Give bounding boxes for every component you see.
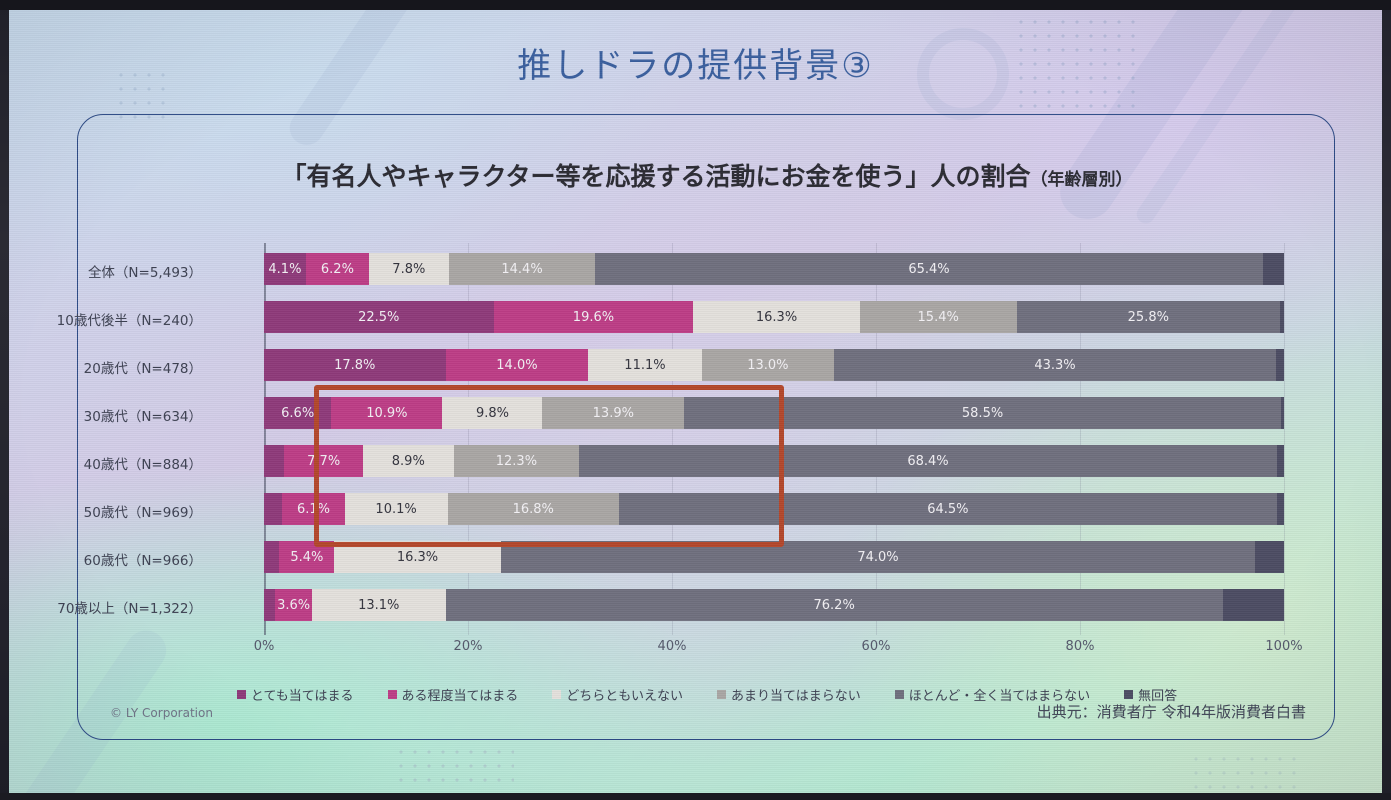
category-label: 30歳代（N=634）: [22, 405, 202, 425]
bar-row: 4.1%6.2%7.8%14.4%65.4%: [264, 253, 1284, 285]
content-card: 「有名人やキャラクター等を応援する活動にお金を使う」人の割合（年齢層別） 全体（…: [77, 114, 1335, 740]
bar-segment: [1280, 301, 1284, 333]
bar-segment: [264, 589, 275, 621]
legend-swatch-icon: [717, 690, 726, 699]
x-axis-ticks: 0%20%40%60%80%100%: [264, 639, 1284, 659]
bar-segment: 17.8%: [264, 349, 446, 381]
bar-segment: 43.3%: [834, 349, 1276, 381]
monitor-bezel-top: [0, 0, 1391, 10]
monitor-bezel-right: [1382, 0, 1391, 800]
legend-label: あまり当てはまらない: [731, 685, 861, 704]
bar-segment: 16.3%: [693, 301, 859, 333]
screen-photo: 推しドラの提供背景③ 「有名人やキャラクター等を応援する活動にお金を使う」人の割…: [0, 0, 1391, 800]
bar-segment: 15.4%: [860, 301, 1017, 333]
legend-item[interactable]: どちらともいえない: [552, 685, 683, 704]
category-label: 20歳代（N=478）: [22, 357, 202, 377]
bar-segment: 22.5%: [264, 301, 494, 333]
bar-segment: 4.1%: [264, 253, 306, 285]
category-label: 全体（N=5,493）: [22, 261, 202, 281]
category-label: 10歳代後半（N=240）: [22, 309, 202, 329]
bar-row: 3.6%13.1%76.2%: [264, 589, 1284, 621]
decorative-dots: [1189, 752, 1299, 792]
bar-segment: 19.6%: [494, 301, 694, 333]
bar-segment: [1281, 397, 1284, 429]
bar-segment: [1255, 541, 1284, 573]
bar-segment: 3.6%: [275, 589, 312, 621]
bar-segment: 65.4%: [595, 253, 1262, 285]
legend-swatch-icon: [552, 690, 561, 699]
x-tick-label: 40%: [658, 639, 687, 654]
bar-segment: [1276, 349, 1284, 381]
x-tick-label: 80%: [1066, 639, 1095, 654]
decorative-dots: [394, 745, 514, 791]
bar-segment: 14.4%: [449, 253, 596, 285]
category-label: 50歳代（N=969）: [22, 501, 202, 521]
legend-label: ある程度当てはまる: [402, 685, 519, 704]
legend-label: とても当てはまる: [251, 685, 354, 704]
bar-segment: [264, 493, 282, 525]
legend-item[interactable]: ある程度当てはまる: [388, 685, 519, 704]
bar-row: 22.5%19.6%16.3%15.4%25.8%: [264, 301, 1284, 333]
bar-segment: [1277, 493, 1284, 525]
category-label: 60歳代（N=966）: [22, 549, 202, 569]
legend-item[interactable]: とても当てはまる: [237, 685, 354, 704]
x-tick-label: 60%: [862, 639, 891, 654]
chart-title: 「有名人やキャラクター等を応援する活動にお金を使う」人の割合（年齢層別）: [78, 157, 1336, 193]
bar-segment: 13.1%: [312, 589, 446, 621]
category-label: 70歳以上（N=1,322）: [22, 597, 202, 617]
bar-segment: 6.2%: [306, 253, 369, 285]
bar-segment: [264, 445, 284, 477]
legend-swatch-icon: [237, 690, 246, 699]
category-label: 40歳代（N=884）: [22, 453, 202, 473]
legend-label: どちらともいえない: [566, 685, 683, 704]
presentation-slide: 推しドラの提供背景③ 「有名人やキャラクター等を応援する活動にお金を使う」人の割…: [9, 10, 1382, 793]
bar-segment: [1223, 589, 1284, 621]
highlight-box: [314, 385, 784, 547]
bar-segment: 11.1%: [588, 349, 701, 381]
bar-segment: 25.8%: [1017, 301, 1280, 333]
source-text: 出典元：消費者庁 令和4年版消費者白書: [1037, 701, 1306, 722]
x-tick-label: 20%: [454, 639, 483, 654]
bar-segment: [264, 541, 279, 573]
page-title: 推しドラの提供背景③: [9, 38, 1382, 87]
bar-segment: 7.8%: [369, 253, 449, 285]
monitor-bezel-bottom: [0, 793, 1391, 800]
bar-segment: 13.0%: [702, 349, 835, 381]
x-tick-label: 0%: [254, 639, 275, 654]
bar-segment: [1263, 253, 1284, 285]
bar-row: 17.8%14.0%11.1%13.0%43.3%: [264, 349, 1284, 381]
legend-swatch-icon: [388, 690, 397, 699]
chart-title-main: 「有名人やキャラクター等を応援する活動にお金を使う」人の割合: [281, 162, 1030, 191]
chart-title-sub: （年齢層別）: [1031, 170, 1133, 190]
bar-segment: [1277, 445, 1284, 477]
grid-line: [1284, 243, 1285, 635]
legend-swatch-icon: [1124, 690, 1133, 699]
monitor-bezel-left: [0, 0, 9, 800]
legend-swatch-icon: [895, 690, 904, 699]
x-tick-label: 100%: [1265, 639, 1302, 654]
legend-item[interactable]: あまり当てはまらない: [717, 685, 861, 704]
copyright-text: © LY Corporation: [110, 706, 213, 720]
bar-segment: 14.0%: [446, 349, 589, 381]
bar-segment: 76.2%: [446, 589, 1223, 621]
